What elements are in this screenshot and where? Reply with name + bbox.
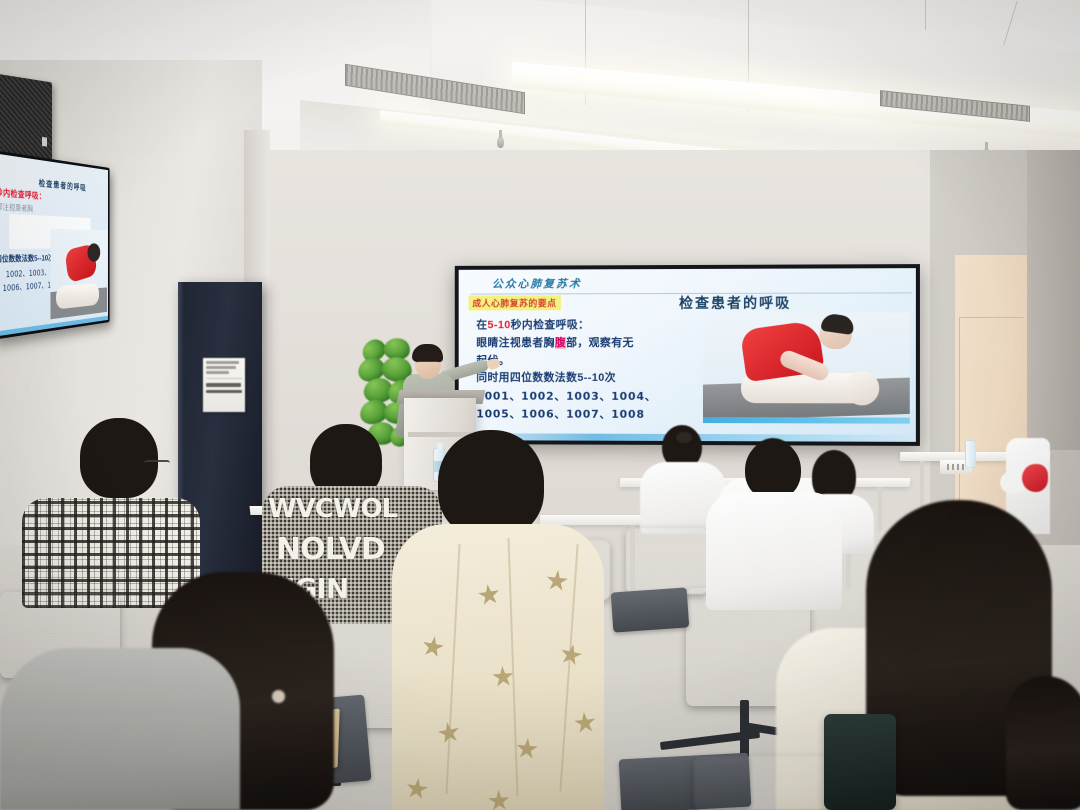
head xyxy=(80,418,158,498)
head xyxy=(438,430,544,538)
chair[interactable] xyxy=(626,528,708,594)
tablet-arm-desk[interactable] xyxy=(611,587,690,632)
slide-count-line-1: 1001、1002、1003、1004、 xyxy=(476,388,689,406)
sweater-wave xyxy=(507,538,518,796)
sweater-wave xyxy=(445,544,460,794)
star-motif xyxy=(545,569,569,593)
far-right-wall xyxy=(1027,150,1080,450)
slide-body-line-2: 眼睛注视患者胸腹部，观察有无 xyxy=(476,335,689,353)
slide-section-tag: 成人心肺复苏的要点 xyxy=(468,295,560,310)
slide-body-text: 在5-10秒内检查呼吸： 眼睛注视患者胸腹部，观察有无 起伏。 同时用四位数数法… xyxy=(476,317,689,424)
chair[interactable] xyxy=(824,714,896,810)
slide-highlight-seconds: 5-10 xyxy=(487,319,510,331)
speaker-led-icon xyxy=(42,137,47,147)
slide-body-line-3: 起伏。 xyxy=(476,353,689,371)
left-slide-photo xyxy=(51,229,107,323)
presentation-slide: 公众心肺复苏术 成人心肺复苏的要点 检查患者的呼吸 在5-10秒内检查呼吸： 眼… xyxy=(459,268,916,442)
water-bottle[interactable] xyxy=(965,440,976,468)
sprinkler-head xyxy=(497,136,504,148)
left-slide-bold-line: 用四位数数法数5--10次 xyxy=(0,252,54,265)
glasses-icon xyxy=(417,361,439,367)
secondary-display-screen: 检查患者的呼吸 10秒内检查呼吸： 全部注视患者胸 用四位数数法数5--10次 … xyxy=(0,153,108,336)
slide-body-line-1: 在5-10秒内检查呼吸： xyxy=(476,317,689,335)
hair-tie xyxy=(272,690,285,703)
notice-tab xyxy=(218,411,231,412)
torso xyxy=(706,492,842,610)
table-leg xyxy=(878,487,882,531)
slide-title: 检查患者的呼吸 xyxy=(630,293,841,314)
left-slide-dim-line: 全部注视患者胸 xyxy=(0,201,33,214)
attendee-head-foreground xyxy=(1006,676,1080,810)
hair-tie xyxy=(676,432,692,443)
slide-highlight-abdomen: 腹 xyxy=(555,337,566,349)
shirt-print-row-1: WVCWOL xyxy=(268,494,397,524)
head xyxy=(745,440,801,500)
main-display[interactable]: 公众心肺复苏术 成人心肺复苏的要点 检查患者的呼吸 在5-10秒内检查呼吸： 眼… xyxy=(455,264,920,446)
photo-blue-band xyxy=(703,417,910,424)
notice-ssid-line xyxy=(206,383,241,387)
star-motif xyxy=(477,583,502,608)
torso xyxy=(0,648,240,810)
classroom-photo: 检查患者的呼吸 10秒内检查呼吸： 全部注视患者胸 用四位数数法数5--10次 … xyxy=(0,0,1080,810)
notice-divider xyxy=(206,378,242,379)
notice-line xyxy=(206,366,236,369)
star-motif xyxy=(515,737,539,761)
star-motif xyxy=(405,777,430,802)
star-motif xyxy=(420,634,445,659)
slide-photo-cpr-demo xyxy=(703,313,910,424)
slide-logo: 公众心肺复苏术 xyxy=(492,275,582,291)
rescuer-head xyxy=(87,243,100,262)
left-slide-title: 检查患者的呼吸 xyxy=(39,177,87,194)
torso xyxy=(392,524,604,810)
presenter-hair xyxy=(412,344,443,362)
red-cpr-equipment xyxy=(1022,464,1048,492)
secondary-display[interactable]: 检查患者的呼吸 10秒内检查呼吸： 全部注视患者胸 用四位数数法数5--10次 … xyxy=(0,150,110,340)
shirt-print-row-2: NOLVD xyxy=(276,532,385,567)
ceiling-seam xyxy=(1003,1,1017,45)
slide-body-line-4: 同时用四位数数法数5--10次 xyxy=(476,370,689,388)
star-motif xyxy=(487,789,510,810)
notice-line xyxy=(206,361,239,364)
star-motif xyxy=(573,711,597,735)
glasses-icon xyxy=(144,460,170,470)
cpr-manikin-head xyxy=(845,371,879,405)
notice-password-line xyxy=(206,390,242,394)
notice-line xyxy=(206,371,229,374)
slide-count-line-2: 1005、1006、1007、1008 xyxy=(476,406,689,424)
ceiling-seam xyxy=(925,0,926,30)
wifi-info-sign xyxy=(203,358,245,412)
